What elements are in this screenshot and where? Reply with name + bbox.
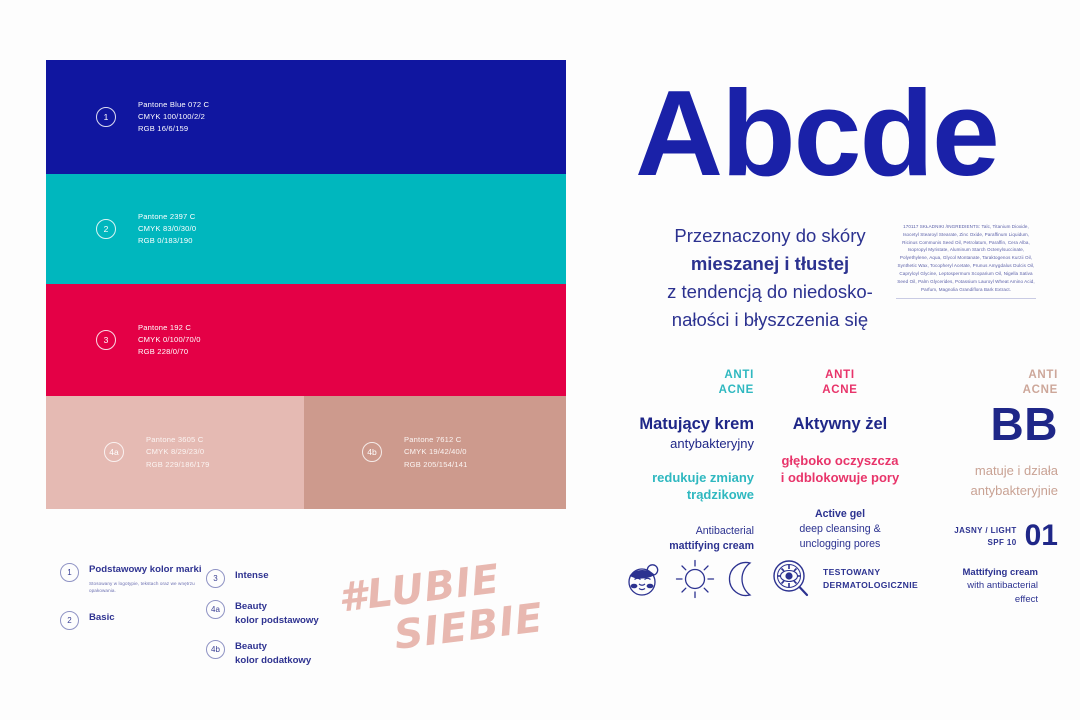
description-line-4: nałości i błyszczenia się xyxy=(641,306,899,334)
legend-label: Beauty kolor dodatkowy xyxy=(235,640,311,668)
product-claim-english: Active gel deep cleansing & unclogging p… xyxy=(774,507,906,552)
product-claim-line-1: matuje i działa xyxy=(926,461,1058,481)
anti-acne-line-1: ANTI xyxy=(774,368,906,383)
swatch-badge: 2 xyxy=(96,219,116,239)
anti-acne-line-2: ACNE xyxy=(622,383,754,398)
legend-badge: 4a xyxy=(206,600,225,619)
swatch-badge: 4b xyxy=(362,442,382,462)
packaging-layout: Abcde Przeznaczony do skóry mieszanej i … xyxy=(600,0,1080,720)
swatch-rgb: RGB 0/183/190 xyxy=(138,235,196,247)
swatch-rgb: RGB 16/6/159 xyxy=(138,123,209,135)
product-columns: ANTI ACNE Matujący krem antybakteryjny r… xyxy=(622,368,1070,548)
swatch-cmyk: CMYK 19/42/40/0 xyxy=(404,446,468,458)
sun-icon xyxy=(674,558,716,600)
swatch-info: Pantone 3605 C CMYK 8/29/23/0 RGB 229/18… xyxy=(146,434,210,471)
swatch-pantone-3605: 4a Pantone 3605 C CMYK 8/29/23/0 RGB 229… xyxy=(46,396,304,509)
swatch-rgb: RGB 205/154/141 xyxy=(404,459,468,471)
swatch-pantone: Pantone 7612 C xyxy=(404,434,468,446)
anti-acne-line-1: ANTI xyxy=(622,368,754,383)
legend-label-text: Beauty xyxy=(235,641,267,652)
swatch-info: Pantone 7612 C CMYK 19/42/40/0 RGB 205/1… xyxy=(404,434,468,471)
anti-acne-label: ANTI ACNE xyxy=(926,368,1058,397)
product-name: Aktywny żel xyxy=(774,415,906,435)
certification-icons: TESTOWANY DERMATOLOGICZNIE xyxy=(624,558,918,600)
english-line-1: Antibacterial xyxy=(622,524,754,539)
dermatology-line-2: DERMATOLOGICZNIE xyxy=(823,579,918,592)
english-line-2: mattifying cream xyxy=(622,539,754,554)
brand-guidelines-page: 1 Pantone Blue 072 C CMYK 100/100/2/2 RG… xyxy=(0,0,1080,720)
legend-label-text-2: kolor podstawowy xyxy=(235,614,319,628)
mattifying-line-3: effect xyxy=(926,593,1038,606)
product-subtitle: antybakteryjny xyxy=(622,436,754,452)
swatch-badge: 1 xyxy=(96,107,116,127)
product-description: Przeznaczony do skóry mieszanej i tłuste… xyxy=(641,222,899,334)
product-claim-line-1: redukuje zmiany xyxy=(622,470,754,487)
legend-label-text: Intense xyxy=(235,570,269,581)
legend-label-text: Podstawowy kolor marki xyxy=(89,564,202,575)
shade-label: JASNY / LIGHT SPF 10 xyxy=(954,525,1016,549)
product-name: Matujący krem xyxy=(622,415,754,435)
shade-number: 01 xyxy=(1025,522,1058,551)
mattifying-line-1: Mattifying cream xyxy=(926,566,1038,579)
color-palette: 1 Pantone Blue 072 C CMYK 100/100/2/2 RG… xyxy=(46,60,566,530)
legend-label: Intense xyxy=(235,569,269,588)
swatch-info: Pantone Blue 072 C CMYK 100/100/2/2 RGB … xyxy=(138,99,209,136)
legend-badge: 4b xyxy=(206,640,225,659)
swatch-badge: 3 xyxy=(96,330,116,350)
mattifying-note: Mattifying cream with antibacterial effe… xyxy=(926,566,1038,606)
mattifying-line-2: with antibacterial xyxy=(926,579,1038,592)
dermatology-tested-label: TESTOWANY DERMATOLOGICZNIE xyxy=(823,566,918,592)
product-claim-line-2: trądzikowe xyxy=(622,487,754,504)
product-column-bb-cream: ANTI ACNE BB matuje i działa antybaktery… xyxy=(926,368,1058,551)
product-column-active-gel: ANTI ACNE Aktywny żel głęboko oczyszcza … xyxy=(774,368,906,552)
product-name: BB xyxy=(926,401,1058,447)
product-claim-line-2: i odblokowuje pory xyxy=(774,470,906,487)
shade-info: JASNY / LIGHT SPF 10 01 xyxy=(926,522,1058,551)
english-line-2: deep cleansing & xyxy=(774,522,906,537)
legend-column-left: 1 Podstawowy kolor marki Stosowany w log… xyxy=(60,563,210,639)
legend-sublabel: Stosowany w logotypie, tekstach oraz we … xyxy=(89,581,210,595)
anti-acne-line-2: ACNE xyxy=(774,383,906,398)
swatch-pantone: Pantone 3605 C xyxy=(146,434,210,446)
description-line-3: z tendencją do niedosko- xyxy=(641,278,899,306)
english-line-1: Active gel xyxy=(774,507,906,522)
legend-item-primary: 1 Podstawowy kolor marki Stosowany w log… xyxy=(60,563,210,595)
anti-acne-label: ANTI ACNE xyxy=(622,368,754,397)
legend-label-text: Beauty xyxy=(235,601,267,612)
legend-label: Beauty kolor podstawowy xyxy=(235,600,319,628)
swatch-pantone: Pantone 2397 C xyxy=(138,211,196,223)
legend-label-text-2: kolor dodatkowy xyxy=(235,654,311,668)
swatch-rgb: RGB 229/186/179 xyxy=(146,459,210,471)
swatch-pantone-2397: 2 Pantone 2397 C CMYK 83/0/30/0 RGB 0/18… xyxy=(46,174,566,284)
anti-acne-label: ANTI ACNE xyxy=(774,368,906,397)
face-icon xyxy=(624,559,664,599)
swatch-pantone-192: 3 Pantone 192 C CMYK 0/100/70/0 RGB 228/… xyxy=(46,284,566,396)
ingredients-list: 170117 SKŁADNIKI /INGREDIENTS: Talc, Tit… xyxy=(896,223,1036,299)
moon-icon xyxy=(726,559,760,599)
swatch-badge: 4a xyxy=(104,442,124,462)
product-column-mattifying-cream: ANTI ACNE Matujący krem antybakteryjny r… xyxy=(622,368,754,554)
swatch-info: Pantone 192 C CMYK 0/100/70/0 RGB 228/0/… xyxy=(138,322,201,359)
typeface-specimen: Abcde xyxy=(635,72,998,194)
legend-label: Podstawowy kolor marki Stosowany w logot… xyxy=(89,563,210,595)
swatch-row-beauty: 4a Pantone 3605 C CMYK 8/29/23/0 RGB 229… xyxy=(46,396,566,509)
product-claim-english: Antibacterial mattifying cream xyxy=(622,524,754,554)
anti-acne-line-2: ACNE xyxy=(926,383,1058,398)
swatch-cmyk: CMYK 100/100/2/2 xyxy=(138,111,209,123)
product-claim: redukuje zmiany trądzikowe xyxy=(622,470,754,504)
dermatology-line-1: TESTOWANY xyxy=(823,566,918,579)
swatch-cmyk: CMYK 83/0/30/0 xyxy=(138,223,196,235)
swatch-cmyk: CMYK 0/100/70/0 xyxy=(138,334,201,346)
legend-label-text: Basic xyxy=(89,612,115,623)
swatch-cmyk: CMYK 8/29/23/0 xyxy=(146,446,210,458)
product-claim: matuje i działa antybakteryjnie xyxy=(926,461,1058,500)
product-claim-line-2: antybakteryjnie xyxy=(926,481,1058,501)
hashtag-lockup: #LUBIE SIEBIE xyxy=(336,556,576,656)
anti-acne-line-1: ANTI xyxy=(926,368,1058,383)
english-line-3: unclogging pores xyxy=(774,537,906,552)
swatch-pantone-7612: 4b Pantone 7612 C CMYK 19/42/40/0 RGB 20… xyxy=(304,396,566,509)
swatch-pantone-blue-072: 1 Pantone Blue 072 C CMYK 100/100/2/2 RG… xyxy=(46,60,566,174)
description-line-2: mieszanej i tłustej xyxy=(641,250,899,278)
shade-label-line-2: SPF 10 xyxy=(954,537,1016,549)
legend-item-basic: 2 Basic xyxy=(60,611,210,630)
description-line-1: Przeznaczony do skóry xyxy=(641,222,899,250)
legend-badge: 3 xyxy=(206,569,225,588)
swatch-pantone: Pantone 192 C xyxy=(138,322,201,334)
shade-label-line-1: JASNY / LIGHT xyxy=(954,525,1016,537)
product-claim: głęboko oczyszcza i odblokowuje pory xyxy=(774,453,906,487)
legend-label: Basic xyxy=(89,611,115,630)
swatch-info: Pantone 2397 C CMYK 83/0/30/0 RGB 0/183/… xyxy=(138,211,196,248)
eye-magnifier-icon xyxy=(770,558,814,600)
legend-badge: 2 xyxy=(60,611,79,630)
swatch-rgb: RGB 228/0/70 xyxy=(138,346,201,358)
legend-badge: 1 xyxy=(60,563,79,582)
product-claim-line-1: głęboko oczyszcza xyxy=(774,453,906,470)
swatch-pantone: Pantone Blue 072 C xyxy=(138,99,209,111)
